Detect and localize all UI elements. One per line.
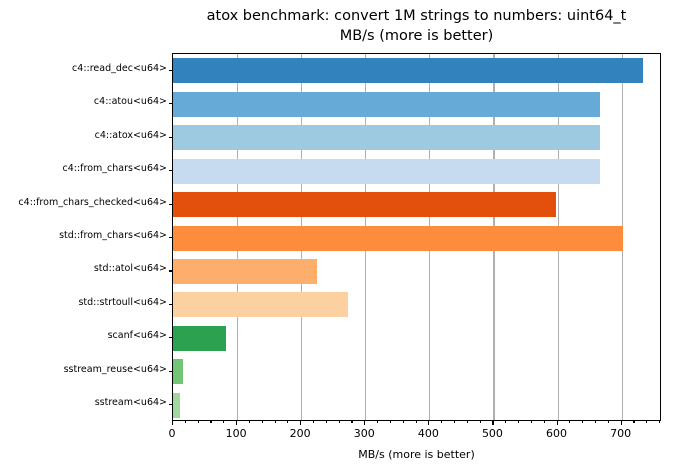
x-tick-label: 0: [169, 427, 176, 440]
bar: [173, 192, 556, 217]
x-tick-minor: [351, 421, 352, 423]
x-tick-minor: [454, 421, 455, 423]
x-tick-label: 500: [482, 427, 503, 440]
x-tick-minor: [608, 421, 609, 423]
y-tick-label: sstream_reuse<u64>: [64, 364, 167, 375]
bar: [173, 125, 600, 150]
x-tick-minor: [390, 421, 391, 423]
x-tick-label: 700: [610, 427, 631, 440]
x-tick-mark: [300, 421, 301, 425]
y-tick-label: c4::from_chars_checked<u64>: [18, 197, 167, 208]
x-tick-minor: [480, 421, 481, 423]
x-tick-minor: [569, 421, 570, 423]
y-tick-mark: [169, 137, 173, 138]
bar: [173, 226, 623, 251]
x-tick-mark: [236, 421, 237, 425]
y-tick-mark: [169, 270, 173, 271]
bar: [173, 359, 183, 384]
y-tick-mark: [169, 337, 173, 338]
y-tick-label: std::strtoull<u64>: [78, 297, 167, 308]
chart-title: atox benchmark: convert 1M strings to nu…: [172, 6, 661, 46]
x-tick-minor: [198, 421, 199, 423]
y-tick-mark: [169, 237, 173, 238]
x-tick-label: 300: [354, 427, 375, 440]
chart-figure: atox benchmark: convert 1M strings to nu…: [0, 0, 676, 475]
y-tick-mark: [169, 404, 173, 405]
x-tick-minor: [377, 421, 378, 423]
x-tick-label: 100: [226, 427, 247, 440]
x-tick-minor: [633, 421, 634, 423]
y-tick-label: c4::from_chars<u64>: [63, 163, 167, 174]
x-tick-minor: [223, 421, 224, 423]
bar: [173, 292, 348, 317]
y-tick-label: std::atol<u64>: [94, 263, 167, 274]
y-tick-mark: [169, 204, 173, 205]
y-tick-label: c4::atou<u64>: [94, 96, 167, 107]
y-tick-mark: [169, 371, 173, 372]
y-tick-label: c4::read_dec<u64>: [72, 63, 167, 74]
x-tick-minor: [646, 421, 647, 423]
x-tick-minor: [505, 421, 506, 423]
x-tick-label: 600: [546, 427, 567, 440]
y-tick-label: sstream<u64>: [95, 397, 167, 408]
x-tick-minor: [544, 421, 545, 423]
y-tick-label: c4::atox<u64>: [95, 130, 167, 141]
bar: [173, 159, 600, 184]
x-tick-minor: [249, 421, 250, 423]
x-tick-label: 400: [418, 427, 439, 440]
x-tick-minor: [467, 421, 468, 423]
x-tick-minor: [326, 421, 327, 423]
x-tick-mark: [364, 421, 365, 425]
x-tick-minor: [339, 421, 340, 423]
bar: [173, 259, 317, 284]
x-tick-minor: [185, 421, 186, 423]
plot-area: [172, 53, 661, 421]
x-tick-minor: [416, 421, 417, 423]
x-tick-label: 200: [290, 427, 311, 440]
y-tick-mark: [169, 70, 173, 71]
x-tick-mark: [172, 421, 173, 425]
bar: [173, 92, 600, 117]
bar: [173, 393, 180, 418]
x-tick-minor: [582, 421, 583, 423]
x-tick-minor: [595, 421, 596, 423]
x-tick-mark: [621, 421, 622, 425]
x-tick-mark: [492, 421, 493, 425]
x-tick-minor: [403, 421, 404, 423]
x-tick-minor: [275, 421, 276, 423]
x-tick-minor: [262, 421, 263, 423]
x-tick-minor: [287, 421, 288, 423]
x-tick-minor: [518, 421, 519, 423]
y-tick-mark: [169, 304, 173, 305]
x-tick-mark: [557, 421, 558, 425]
y-tick-mark: [169, 103, 173, 104]
x-tick-minor: [313, 421, 314, 423]
bar: [173, 58, 643, 83]
y-tick-label: std::from_chars<u64>: [59, 230, 167, 241]
x-tick-minor: [531, 421, 532, 423]
x-tick-mark: [428, 421, 429, 425]
bar: [173, 326, 226, 351]
x-axis-label: MB/s (more is better): [172, 448, 661, 461]
x-tick-minor: [210, 421, 211, 423]
x-tick-minor: [659, 421, 660, 423]
y-tick-mark: [169, 170, 173, 171]
x-tick-minor: [441, 421, 442, 423]
y-tick-label: scanf<u64>: [108, 330, 167, 341]
